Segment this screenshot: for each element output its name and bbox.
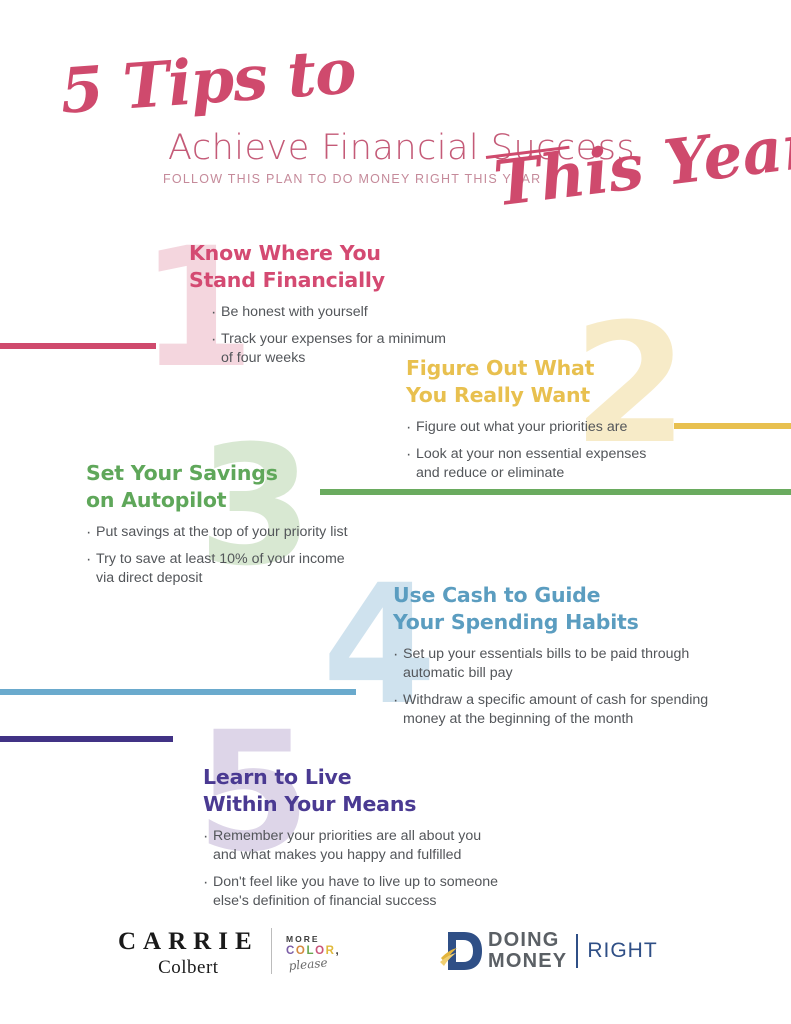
carrie-colbert-logo: CARRIE Colbert: [118, 928, 259, 979]
tip-block-2: Figure Out What You Really Want Figure o…: [406, 355, 726, 491]
tip-block-3: Set Your Savings on Autopilot Put saving…: [86, 460, 416, 596]
more-color-please-logo: MORE COLOR, please: [286, 934, 340, 975]
tip-2-title: Figure Out What You Really Want: [406, 355, 726, 409]
dmr-line-doing: DOING: [488, 930, 567, 951]
dmr-right-text: RIGHT: [587, 939, 657, 963]
list-item: Set up your essentials bills to be paid …: [393, 645, 753, 683]
carrie-logo-bottom: Colbert: [118, 957, 259, 979]
tip-5-bullets: Remember your priorities are all about y…: [203, 827, 563, 911]
tip-3-title: Set Your Savings on Autopilot: [86, 460, 416, 514]
list-item: Remember your priorities are all about y…: [203, 827, 563, 865]
tip-block-5: Learn to Live Within Your Means Remember…: [203, 764, 563, 919]
mcp-please-text: please: [288, 956, 328, 973]
list-item: Look at your non essential expenses and …: [406, 445, 726, 483]
mcp-letter: ,: [336, 945, 341, 957]
header-script-this-year: This Year: [490, 109, 791, 221]
dmr-separator: [576, 934, 578, 968]
list-item: Put savings at the top of your priority …: [86, 523, 416, 542]
tip-4-bullets: Set up your essentials bills to be paid …: [393, 645, 753, 729]
dmr-line-money: MONEY: [488, 951, 567, 972]
carrie-logo-top: CARRIE: [118, 928, 259, 956]
mcp-letter: O: [296, 945, 307, 957]
rule-tip-4: [0, 689, 356, 695]
list-item: Withdraw a specific amount of cash for s…: [393, 691, 753, 729]
mcp-letter: C: [286, 945, 296, 957]
footer: CARRIE Colbert MORE COLOR, please DOING …: [0, 918, 791, 1008]
list-item: Be honest with yourself: [211, 303, 489, 322]
rule-tip-1: [0, 343, 156, 349]
logo-divider: [271, 928, 272, 974]
mcp-color-text: COLOR,: [286, 945, 340, 957]
header-script-5tips: 5 Tips to: [58, 34, 358, 127]
infographic-page: 5 Tips to Achieve Financial Success FOLL…: [0, 0, 791, 1024]
tip-5-title: Learn to Live Within Your Means: [203, 764, 563, 818]
list-item: Try to save at least 10% of your income …: [86, 550, 416, 588]
tip-2-bullets: Figure out what your priorities are Look…: [406, 418, 726, 483]
mcp-more-text: MORE: [286, 934, 340, 944]
tip-block-4: Use Cash to Guide Your Spending Habits S…: [393, 582, 753, 737]
list-item: Don't feel like you have to live up to s…: [203, 873, 563, 911]
tip-1-title: Know Where You Stand Financially: [189, 240, 489, 294]
mcp-letter: R: [326, 945, 336, 957]
header-subhead: FOLLOW THIS PLAN TO DO MONEY RIGHT THIS …: [163, 172, 541, 186]
mcp-letter: L: [306, 945, 315, 957]
list-item: Figure out what your priorities are: [406, 418, 726, 437]
tip-4-title: Use Cash to Guide Your Spending Habits: [393, 582, 753, 636]
doing-money-right-logo: DOING MONEY RIGHT: [438, 928, 658, 974]
dmr-d-monogram-icon: [438, 928, 484, 974]
tip-3-bullets: Put savings at the top of your priority …: [86, 523, 416, 588]
dmr-wordmark: DOING MONEY: [488, 930, 567, 972]
rule-tip-5: [0, 736, 173, 742]
